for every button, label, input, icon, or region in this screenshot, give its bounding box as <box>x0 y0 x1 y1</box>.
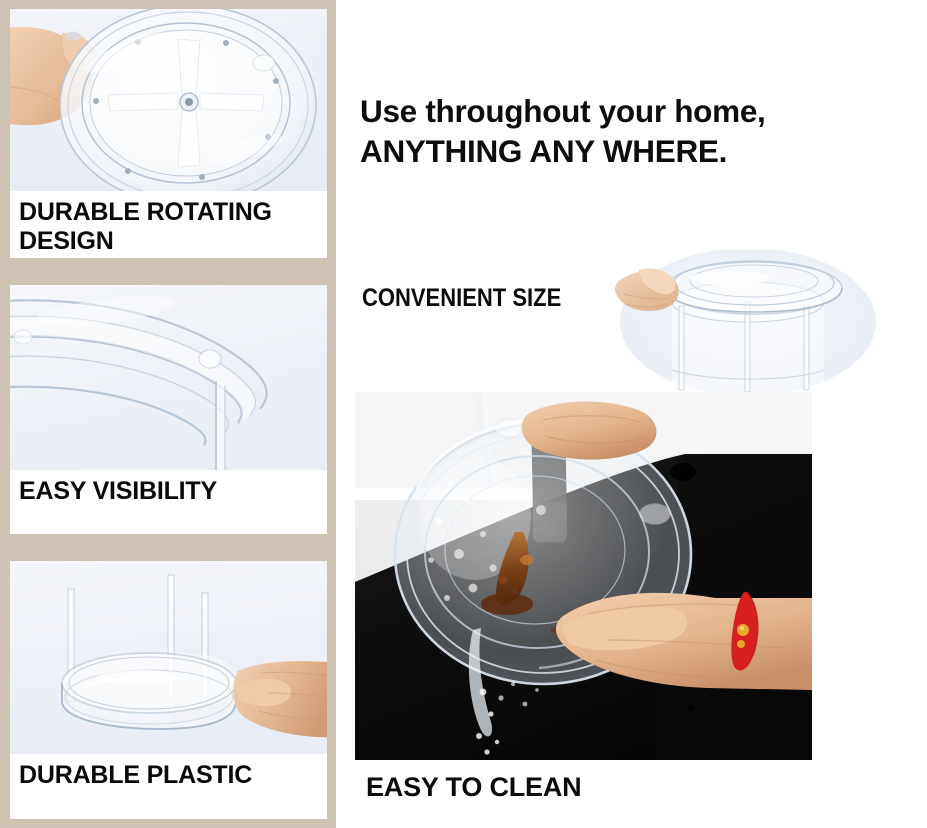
feature-panel-durable-plastic: DURABLE PLASTIC <box>10 561 327 819</box>
caption-line-2: DESIGN <box>19 227 327 256</box>
left-feature-column: DURABLE ROTATING DESIGN <box>0 0 336 828</box>
caption-durable-plastic: DURABLE PLASTIC <box>10 754 327 790</box>
infographic-page: DURABLE ROTATING DESIGN <box>0 0 927 828</box>
caption-line-1: DURABLE PLASTIC <box>19 761 327 790</box>
photo-durable-plastic <box>10 561 327 754</box>
tray-with-dividers-illustration <box>10 561 327 754</box>
divider-wall <box>216 381 225 470</box>
lid-lift-illustration <box>598 250 894 392</box>
rotating-turntable-illustration <box>10 9 327 191</box>
caption-easy-visibility: EASY VISIBILITY <box>10 470 327 506</box>
lifted-lid <box>666 261 842 314</box>
sink-rinsing-illustration <box>355 392 812 760</box>
turntable-disc <box>60 9 316 191</box>
clear-tray <box>62 653 236 729</box>
photo-easy-to-clean <box>355 392 812 760</box>
photo-durable-rotating-design <box>10 9 327 191</box>
caption-line-1: EASY VISIBILITY <box>19 477 327 506</box>
right-content-column: Use throughout your home, ANYTHING ANY W… <box>336 0 927 828</box>
hand-upper <box>522 402 657 460</box>
headline-line-2: ANYTHING ANY WHERE. <box>360 131 900 171</box>
feature-panel-easy-visibility: EASY VISIBILITY <box>10 285 327 534</box>
photo-easy-visibility <box>10 285 327 470</box>
headline-line-1: Use throughout your home, <box>360 91 900 131</box>
page-headline: Use throughout your home, ANYTHING ANY W… <box>360 91 900 172</box>
caption-durable-rotating-design: DURABLE ROTATING DESIGN <box>10 191 327 257</box>
label-convenient-size: CONVENIENT SIZE <box>362 284 561 313</box>
clear-rim-closeup-illustration <box>10 285 327 470</box>
label-easy-to-clean: EASY TO CLEAN <box>366 772 581 803</box>
feature-panel-durable-rotating-design: DURABLE ROTATING DESIGN <box>10 9 327 258</box>
caption-line-1: DURABLE ROTATING <box>19 198 327 227</box>
photo-convenient-size <box>598 250 894 392</box>
